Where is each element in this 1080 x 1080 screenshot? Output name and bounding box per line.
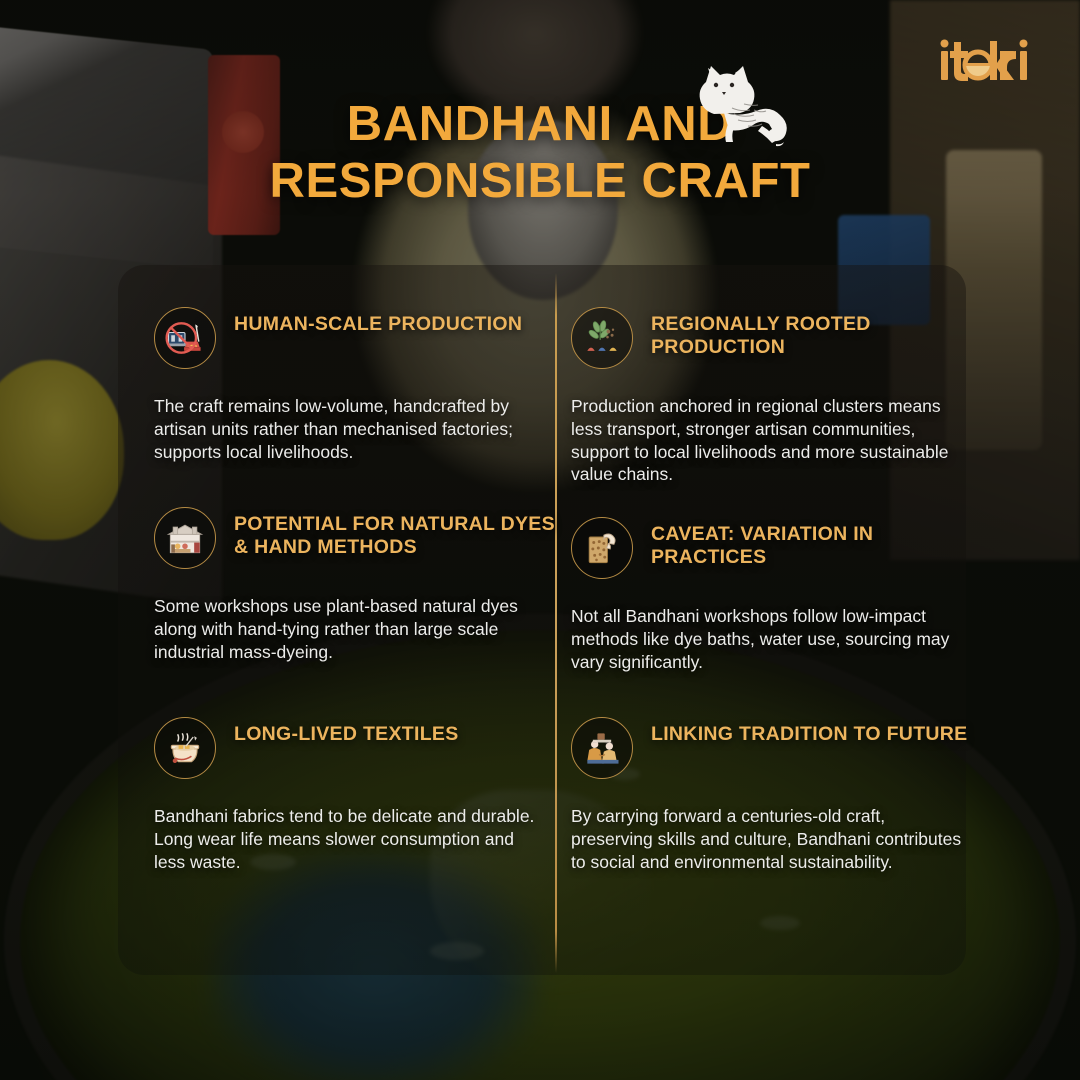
item-header: CAVEAT: VARIATION IN PRACTICES: [571, 517, 971, 579]
page-title-line-1: BANDHANI AND: [347, 97, 733, 151]
item-title: POTENTIAL FOR NATURAL DYES & HAND METHOD…: [234, 507, 555, 559]
item-title: CAVEAT: VARIATION IN PRACTICES: [651, 517, 971, 569]
hand-holding-patterned-fabric-icon: [571, 517, 633, 579]
page-title: BANDHANI AND RESPONSIBLE CRAFT: [0, 0, 1080, 210]
feature-item-natural-dyes: POTENTIAL FOR NATURAL DYES & HAND METHOD…: [118, 507, 555, 663]
header: BANDHANI AND RESPONSIBLE CRAFT: [0, 0, 1080, 210]
item-title: LINKING TRADITION TO FUTURE: [651, 717, 967, 746]
item-header: POTENTIAL FOR NATURAL DYES & HAND METHOD…: [154, 507, 555, 569]
no-factory-machine-icon: [154, 307, 216, 369]
item-header: REGIONALLY ROOTED PRODUCTION: [571, 307, 971, 369]
feature-item-linking-tradition: LINKING TRADITION TO FUTURE By carrying …: [555, 717, 971, 873]
leaves-and-spice-mounds-icon: [571, 307, 633, 369]
item-header: HUMAN-SCALE PRODUCTION: [154, 307, 546, 369]
feature-item-caveat-variation: CAVEAT: VARIATION IN PRACTICES Not all B…: [555, 517, 971, 673]
item-header: LINKING TRADITION TO FUTURE: [571, 717, 971, 779]
steaming-dye-pot-icon: [154, 717, 216, 779]
feature-item-regionally-rooted: REGIONALLY ROOTED PRODUCTION Production …: [555, 307, 971, 486]
item-body: The craft remains low-volume, handcrafte…: [154, 395, 546, 463]
feature-item-human-scale-production: HUMAN-SCALE PRODUCTION The craft remains…: [118, 307, 546, 463]
item-body: By carrying forward a centuries-old craf…: [571, 805, 971, 873]
itokri-logo[interactable]: [938, 38, 1044, 84]
item-body: Some workshops use plant-based natural d…: [154, 595, 546, 663]
content-card: HUMAN-SCALE PRODUCTION The craft remains…: [118, 265, 966, 975]
feature-item-long-lived-textiles: LONG-LIVED TEXTILES Bandhani fabrics ten…: [118, 717, 546, 873]
workshop-building-icon: [154, 507, 216, 569]
page-title-line-2: RESPONSIBLE CRAFT: [0, 153, 1080, 210]
item-body: Bandhani fabrics tend to be delicate and…: [154, 805, 546, 873]
item-title: LONG-LIVED TEXTILES: [234, 717, 459, 746]
cat-illustration-icon: [688, 52, 800, 148]
item-body: Not all Bandhani workshops follow low-im…: [571, 605, 971, 673]
item-body: Production anchored in regional clusters…: [571, 395, 971, 486]
two-artisans-working-icon: [571, 717, 633, 779]
item-title: HUMAN-SCALE PRODUCTION: [234, 307, 522, 336]
item-title: REGIONALLY ROOTED PRODUCTION: [651, 307, 971, 359]
item-header: LONG-LIVED TEXTILES: [154, 717, 546, 779]
